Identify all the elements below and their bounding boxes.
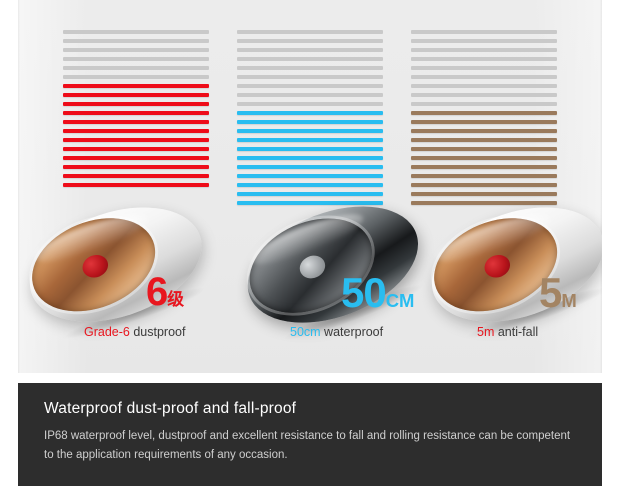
caption-highlight-waterproof: 50cm bbox=[290, 325, 321, 339]
footer-heading: Waterproof dust-proof and fall-proof bbox=[44, 400, 576, 418]
footer-body: IP68 waterproof level, dustproof and exc… bbox=[44, 427, 576, 464]
bar-waterproof bbox=[237, 138, 383, 142]
bar-dustproof bbox=[63, 84, 209, 88]
bar-dustproof bbox=[63, 93, 209, 97]
bar-antifall bbox=[411, 174, 557, 178]
ring-sensor-dot bbox=[296, 252, 329, 283]
bar-gray bbox=[411, 84, 557, 88]
bar-dustproof bbox=[63, 165, 209, 169]
bar-antifall bbox=[411, 147, 557, 151]
bar-antifall bbox=[411, 165, 557, 169]
callout-value-dustproof: 6级 bbox=[146, 272, 184, 312]
bar-antifall bbox=[411, 120, 557, 124]
bar-waterproof bbox=[237, 165, 383, 169]
callout-unit-antifall: M bbox=[561, 290, 576, 311]
bar-dustproof bbox=[63, 111, 209, 115]
bar-dustproof bbox=[63, 174, 209, 178]
bar-gray bbox=[411, 30, 557, 34]
bar-antifall bbox=[411, 156, 557, 160]
bar-dustproof bbox=[63, 156, 209, 160]
bar-gray bbox=[411, 39, 557, 43]
bar-gray bbox=[237, 93, 383, 97]
bar-antifall bbox=[411, 111, 557, 115]
bar-gray bbox=[237, 102, 383, 106]
bar-gray bbox=[237, 84, 383, 88]
bar-gray bbox=[63, 30, 209, 34]
bar-gray bbox=[237, 57, 383, 61]
callout-unit-dustproof: 级 bbox=[167, 290, 184, 309]
bar-gray bbox=[411, 66, 557, 70]
bar-antifall bbox=[411, 138, 557, 142]
bar-gray bbox=[63, 66, 209, 70]
caption-highlight-dustproof: Grade-6 bbox=[84, 325, 130, 339]
callout-unit-waterproof: CM bbox=[386, 290, 415, 311]
bar-gray bbox=[237, 48, 383, 52]
bar-gray bbox=[411, 102, 557, 106]
bar-gray bbox=[411, 48, 557, 52]
caption-rest-waterproof: waterproof bbox=[321, 325, 384, 339]
bar-gray bbox=[411, 75, 557, 79]
stage-left-edge bbox=[18, 0, 20, 373]
feature-stage: 6级 50CM 5M Grade-6 dustproof 50cm waterp… bbox=[18, 0, 602, 373]
caption-highlight-antifall: 5m bbox=[477, 325, 494, 339]
product-feature-banner: 6级 50CM 5M Grade-6 dustproof 50cm waterp… bbox=[0, 0, 620, 501]
bar-gray bbox=[411, 93, 557, 97]
ring-sensor-dot bbox=[481, 251, 513, 281]
bar-dustproof bbox=[63, 129, 209, 133]
bar-gray bbox=[63, 57, 209, 61]
bar-column-antifall bbox=[411, 30, 557, 210]
bar-gray bbox=[237, 30, 383, 34]
bar-waterproof bbox=[237, 147, 383, 151]
bar-waterproof bbox=[237, 174, 383, 178]
callout-value-antifall: 5M bbox=[539, 272, 577, 314]
bar-waterproof bbox=[237, 156, 383, 160]
bar-waterproof bbox=[237, 120, 383, 124]
bar-antifall bbox=[411, 129, 557, 133]
bar-waterproof bbox=[237, 129, 383, 133]
caption-waterproof: 50cm waterproof bbox=[290, 325, 383, 339]
caption-rest-antifall: anti-fall bbox=[494, 325, 538, 339]
callout-number-dustproof: 6 bbox=[146, 270, 167, 314]
bar-gray bbox=[63, 75, 209, 79]
footer-description-panel: Waterproof dust-proof and fall-proof IP6… bbox=[18, 383, 602, 486]
bar-dustproof bbox=[63, 102, 209, 106]
stage-right-edge bbox=[600, 0, 602, 373]
bar-dustproof bbox=[63, 120, 209, 124]
bar-gray bbox=[63, 39, 209, 43]
caption-dustproof: Grade-6 dustproof bbox=[84, 325, 185, 339]
bar-gray bbox=[237, 66, 383, 70]
callout-number-waterproof: 50 bbox=[341, 269, 386, 316]
bar-gray bbox=[63, 48, 209, 52]
caption-antifall: 5m anti-fall bbox=[477, 325, 538, 339]
bar-gray bbox=[237, 39, 383, 43]
bar-dustproof bbox=[63, 147, 209, 151]
callout-number-antifall: 5 bbox=[539, 269, 561, 316]
bar-column-dustproof bbox=[63, 30, 209, 192]
bar-dustproof bbox=[63, 138, 209, 142]
bar-gray bbox=[411, 57, 557, 61]
callout-value-waterproof: 50CM bbox=[341, 272, 414, 314]
bar-gray bbox=[237, 75, 383, 79]
caption-rest-dustproof: dustproof bbox=[130, 325, 186, 339]
bar-waterproof bbox=[237, 111, 383, 115]
ring-sensor-dot bbox=[79, 251, 111, 281]
footer-bottom-strip bbox=[18, 486, 602, 489]
